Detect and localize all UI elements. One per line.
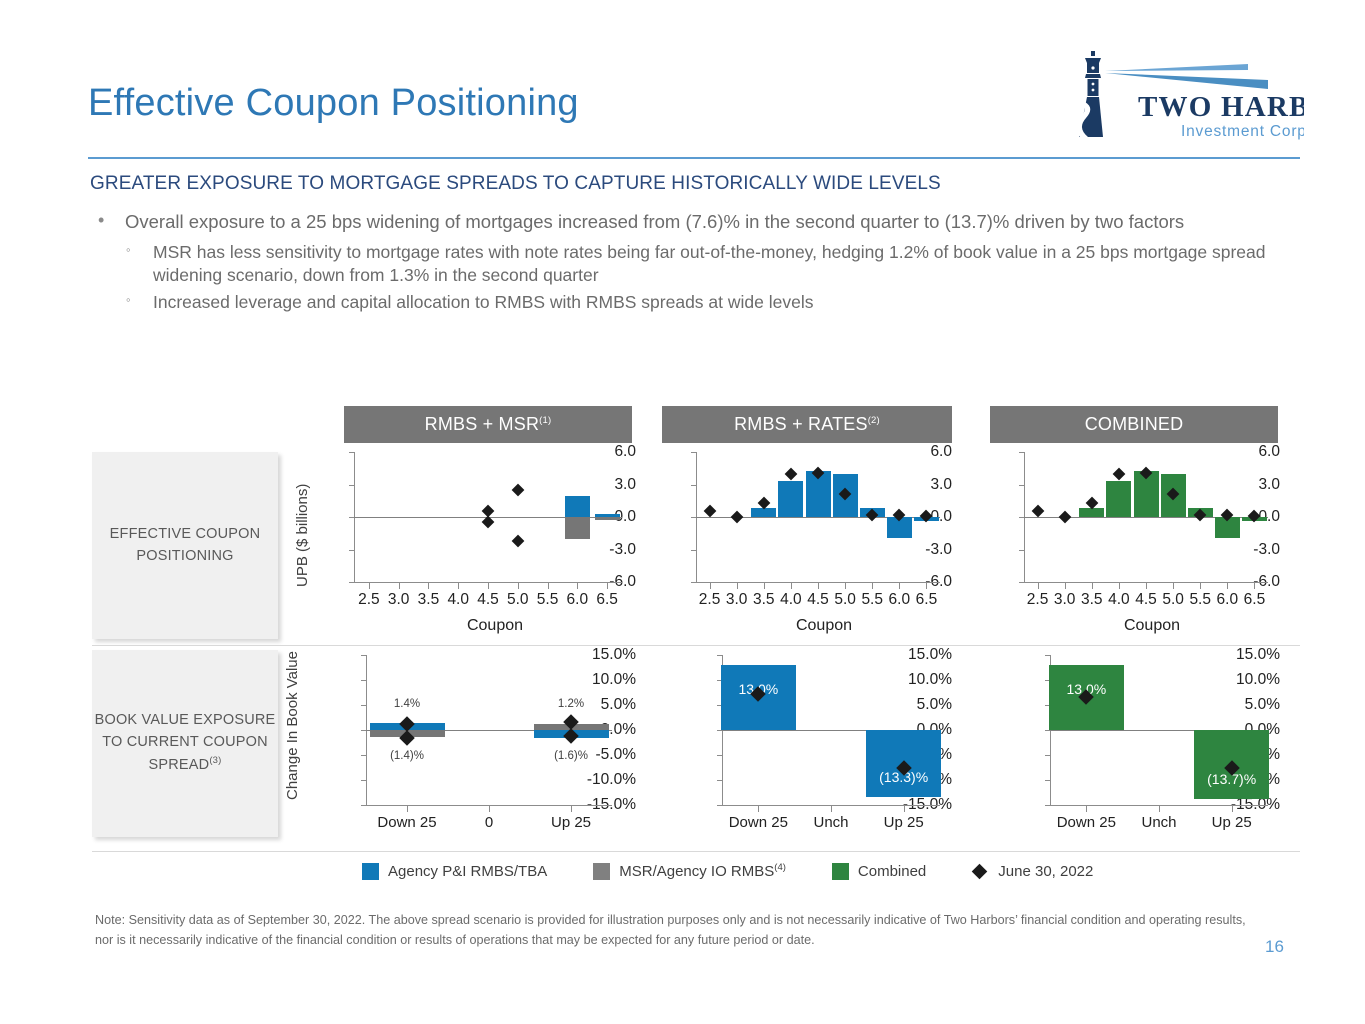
x-axis-tick-label: Down 25 <box>729 814 788 831</box>
chart-bv-combined: 15.0%10.0%5.0%0.0%-5.0%-10.0%-15.0%13.0%… <box>968 655 1280 847</box>
section-label-effective-coupon-positioning: EFFECTIVE COUPON POSITIONING <box>92 452 278 639</box>
y-axis-title: UPB ($ billions) <box>294 484 311 587</box>
legend-swatch-icon <box>593 863 610 880</box>
x-axis-tick-mark <box>548 583 549 589</box>
x-axis-tick-label: Unch <box>813 814 848 831</box>
bullet-item: ◦ MSR has less sensitivity to mortgage r… <box>90 241 1290 288</box>
data-point-marker <box>1031 504 1044 517</box>
x-axis-tick-mark <box>904 806 905 812</box>
column-header-text: RMBS + MSR(1) <box>425 414 552 435</box>
x-axis-tick-label: 4.5 <box>477 591 499 609</box>
x-axis-tick-mark <box>872 583 873 589</box>
section-label-text: EFFECTIVE COUPON POSITIONING <box>92 524 278 568</box>
column-header-rmbs-rates: RMBS + RATES(2) <box>662 406 952 443</box>
x-axis-tick-mark <box>1092 583 1093 589</box>
x-axis-tick-label: 5.5 <box>537 591 559 609</box>
page-number: 16 <box>1265 937 1284 957</box>
chart-bar <box>565 517 590 539</box>
x-axis-tick-mark <box>518 583 519 589</box>
x-axis-tick-mark <box>1159 806 1160 812</box>
x-axis-tick-label: 4.0 <box>447 591 469 609</box>
bullet-text: Increased leverage and capital allocatio… <box>153 292 813 312</box>
x-axis-tick-label: 3.0 <box>726 591 748 609</box>
y-axis-tick-label: 10.0% <box>1207 671 1280 689</box>
chart-legend: Agency P&I RMBS/TBA MSR/Agency IO RMBS(4… <box>362 862 1139 880</box>
diamond-marker-icon <box>972 863 988 879</box>
x-axis-tick-mark <box>1173 583 1174 589</box>
data-point-marker <box>1113 467 1126 480</box>
x-axis-tick-label: 6.0 <box>1217 591 1239 609</box>
y-axis-tick-label: 3.0 <box>915 476 952 494</box>
x-axis-tick-label: 6.0 <box>889 591 911 609</box>
x-axis-tick-mark <box>1119 583 1120 589</box>
x-axis-tick-label: 6.5 <box>916 591 938 609</box>
data-point-marker <box>511 534 524 547</box>
x-axis-tick-mark <box>489 806 490 812</box>
legend-item-agency-pi-rmbs-tba: Agency P&I RMBS/TBA <box>362 862 547 880</box>
data-point-marker <box>511 484 524 497</box>
x-axis-tick-label: 2.5 <box>358 591 380 609</box>
x-axis-tick-mark <box>710 583 711 589</box>
x-axis-tick-mark <box>899 583 900 589</box>
data-point-marker <box>785 467 798 480</box>
x-axis-tick-label: Unch <box>1141 814 1176 831</box>
y-axis-tick-label: 15.0% <box>567 646 636 664</box>
x-axis-tick-mark <box>737 583 738 589</box>
legend-item-combined: Combined <box>832 862 926 880</box>
bullet-text: MSR has less sensitivity to mortgage rat… <box>153 242 1266 285</box>
x-axis-tick-label: 3.5 <box>753 591 775 609</box>
x-axis-tick-label: Down 25 <box>377 814 436 831</box>
chart-upb-rmbs-rates: 6.03.00.0-3.0-6.02.53.03.54.04.55.05.56.… <box>650 452 952 640</box>
legend-label: Combined <box>858 862 926 880</box>
y-axis-title: Change In Book Value <box>284 651 301 800</box>
x-axis-tick-label: 0 <box>485 814 493 831</box>
footnote-ref: (2) <box>868 415 880 426</box>
x-axis-tick-label: Up 25 <box>551 814 591 831</box>
two-harbors-logo: TWO HARBORS Investment Corp. <box>1072 46 1304 140</box>
page-title: Effective Coupon Positioning <box>88 82 579 125</box>
bar-value-label: 1.4% <box>394 698 420 710</box>
y-axis-tick-label: -3.0 <box>587 541 636 559</box>
lighthouse-icon <box>1079 51 1103 137</box>
x-axis-tick-mark <box>764 583 765 589</box>
y-axis-tick-label: 15.0% <box>1207 646 1280 664</box>
bullet-item: • Overall exposure to a 25 bps widening … <box>90 210 1290 235</box>
data-point-marker <box>703 504 716 517</box>
svg-text:Investment Corp.: Investment Corp. <box>1181 123 1304 140</box>
x-axis-tick-mark <box>607 583 608 589</box>
section-label-text: BOOK VALUE EXPOSURE TO CURRENT COUPON SP… <box>92 710 278 776</box>
x-axis-tick-mark <box>1146 583 1147 589</box>
x-axis-tick-label: Up 25 <box>884 814 924 831</box>
data-point-marker <box>730 511 743 524</box>
y-axis-tick-label: 3.0 <box>587 476 636 494</box>
y-axis-tick-label: -3.0 <box>915 541 952 559</box>
legend-swatch-icon <box>832 863 849 880</box>
x-axis-tick-label: 5.0 <box>507 591 529 609</box>
x-axis-tick-mark <box>926 583 927 589</box>
x-axis-tick-label: 5.0 <box>1162 591 1184 609</box>
x-axis-tick-mark <box>1254 583 1255 589</box>
bullet-marker: ◦ <box>126 291 131 308</box>
x-axis-tick-mark <box>571 806 572 812</box>
y-axis-tick-label: -3.0 <box>1243 541 1280 559</box>
y-axis-tick-label: 6.0 <box>1243 443 1280 461</box>
bar-value-label: (1.4)% <box>390 750 424 762</box>
bullet-text: Overall exposure to a 25 bps widening of… <box>125 211 1184 232</box>
x-axis-tick-mark <box>577 583 578 589</box>
x-axis-tick-label: 3.0 <box>388 591 410 609</box>
y-axis-tick-label: 10.0% <box>889 671 952 689</box>
y-axis-tick-label: 5.0% <box>1207 696 1280 714</box>
x-axis-title: Coupon <box>296 617 636 635</box>
x-axis-tick-mark <box>1200 583 1201 589</box>
x-axis-tick-label: 4.5 <box>807 591 829 609</box>
column-header-text: RMBS + RATES(2) <box>734 414 880 435</box>
x-axis-tick-mark <box>1065 583 1066 589</box>
footnote-text: Note: Sensitivity data as of September 3… <box>95 910 1255 951</box>
x-axis-tick-mark <box>488 583 489 589</box>
chart-bar <box>778 481 803 517</box>
x-axis-tick-label: 6.5 <box>1244 591 1266 609</box>
y-axis-tick-label: -10.0% <box>567 771 636 789</box>
x-axis-tick-label: 5.0 <box>834 591 856 609</box>
x-axis-tick-label: 3.5 <box>418 591 440 609</box>
footnote-ref: (1) <box>539 415 551 426</box>
legend-label: Agency P&I RMBS/TBA <box>388 862 547 880</box>
x-axis-tick-label: 6.5 <box>596 591 618 609</box>
x-axis-tick-label: 4.0 <box>780 591 802 609</box>
legend-item-june-30-2022: June 30, 2022 <box>972 863 1093 880</box>
x-axis-tick-label: Down 25 <box>1057 814 1116 831</box>
column-header-combined: COMBINED <box>990 406 1278 443</box>
x-axis-tick-label: 4.0 <box>1108 591 1130 609</box>
svg-text:TWO HARBORS: TWO HARBORS <box>1138 91 1304 123</box>
x-axis-tick-mark <box>818 583 819 589</box>
x-axis-tick-label: Up 25 <box>1212 814 1252 831</box>
column-header-rmbs-msr: RMBS + MSR(1) <box>344 406 632 443</box>
chart-bar <box>565 496 590 517</box>
page-subtitle: GREATER EXPOSURE TO MORTGAGE SPREADS TO … <box>90 173 941 195</box>
chart-bv-rmbs-rates: 15.0%10.0%5.0%0.0%-5.0%-10.0%-15.0%13.0%… <box>650 655 952 847</box>
legend-label: MSR/Agency IO RMBS(4) <box>619 862 786 880</box>
y-axis-tick-label: 3.0 <box>1243 476 1280 494</box>
chart-bar <box>1106 481 1131 517</box>
x-axis-tick-mark <box>791 583 792 589</box>
row-divider-bottom <box>92 851 1300 852</box>
x-axis-tick-mark <box>1232 806 1233 812</box>
x-axis-tick-mark <box>1038 583 1039 589</box>
legend-label: June 30, 2022 <box>998 863 1093 880</box>
y-axis-tick-label: 6.0 <box>587 443 636 461</box>
bullet-item: ◦ Increased leverage and capital allocat… <box>90 291 1290 314</box>
x-axis-tick-mark <box>369 583 370 589</box>
x-axis-tick-mark <box>399 583 400 589</box>
bullet-marker: ◦ <box>126 241 131 258</box>
x-axis-tick-mark <box>758 806 759 812</box>
x-axis-tick-label: 6.0 <box>567 591 589 609</box>
x-axis-tick-mark <box>845 583 846 589</box>
x-axis-title: Coupon <box>650 617 952 635</box>
x-axis-title: Coupon <box>978 617 1280 635</box>
bar-value-label: (1.6)% <box>554 750 588 762</box>
x-axis-tick-mark <box>831 806 832 812</box>
x-axis-tick-label: 2.5 <box>1027 591 1049 609</box>
light-beam-icon <box>1105 64 1268 89</box>
chart-bv-rmbs-msr: Change In Book Value15.0%10.0%5.0%0.0%-5… <box>288 655 636 847</box>
x-axis-tick-label: 5.5 <box>1189 591 1211 609</box>
row-divider-top <box>92 645 1300 646</box>
chart-upb-rmbs-msr: UPB ($ billions)6.03.00.0-3.0-6.02.53.03… <box>296 452 636 640</box>
x-axis-tick-label: 5.5 <box>861 591 883 609</box>
section-label-book-value-exposure: BOOK VALUE EXPOSURE TO CURRENT COUPON SP… <box>92 650 278 837</box>
x-axis-tick-mark <box>1086 806 1087 812</box>
x-axis-tick-mark <box>1227 583 1228 589</box>
column-header-text: COMBINED <box>1085 414 1184 435</box>
x-axis-tick-mark <box>458 583 459 589</box>
legend-item-msr-agency-io-rmbs: MSR/Agency IO RMBS(4) <box>593 862 786 880</box>
y-axis-tick-label: 5.0% <box>889 696 952 714</box>
data-point-marker <box>1058 511 1071 524</box>
bullet-marker: • <box>98 209 104 233</box>
y-axis-tick-label: 15.0% <box>889 646 952 664</box>
y-axis-tick-label: 10.0% <box>567 671 636 689</box>
x-axis-tick-mark <box>407 806 408 812</box>
chart-bar <box>595 517 620 520</box>
x-axis-tick-label: 4.5 <box>1135 591 1157 609</box>
y-axis-tick-label: 6.0 <box>915 443 952 461</box>
x-axis-tick-label: 2.5 <box>699 591 721 609</box>
bullet-list: • Overall exposure to a 25 bps widening … <box>90 210 1290 318</box>
x-axis-tick-label: 3.0 <box>1054 591 1076 609</box>
title-divider <box>88 157 1300 159</box>
bar-value-label: 1.2% <box>558 698 584 710</box>
footnote-ref: (3) <box>209 755 221 766</box>
x-axis-tick-label: 3.5 <box>1081 591 1103 609</box>
x-axis-tick-mark <box>428 583 429 589</box>
chart-upb-combined: 6.03.00.0-3.0-6.02.53.03.54.04.55.05.56.… <box>978 452 1280 640</box>
legend-swatch-icon <box>362 863 379 880</box>
